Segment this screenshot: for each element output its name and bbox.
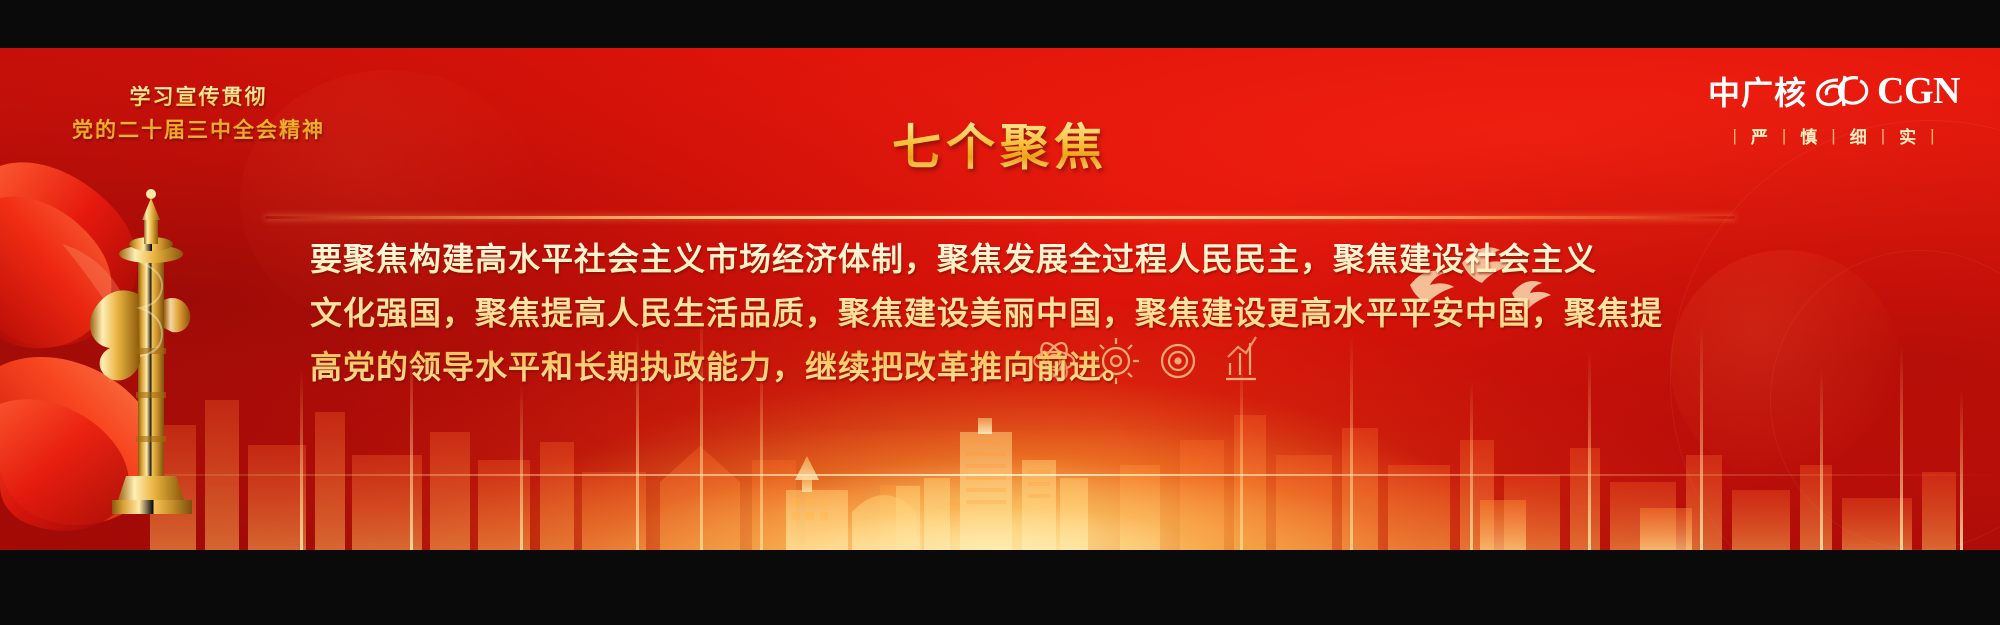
logo-name-en: CGN <box>1877 69 1960 113</box>
logo-separator-2: | <box>1831 126 1836 146</box>
logo-value-3: 实 <box>1886 123 1930 148</box>
logo-value-0: 严 <box>1738 123 1782 148</box>
logo-separator-3: | <box>1881 126 1886 146</box>
cgn-logo: 中广核 CGN | 严 | 慎 | 细 | 实 | <box>1708 68 1960 148</box>
logo-value-1: 慎 <box>1787 123 1831 148</box>
banner-body-text: 要聚焦构建高水平社会主义市场经济体制，聚焦发展全过程人民民主，聚焦建设社会主义 … <box>310 232 1730 394</box>
body-line-2: 文化强国，聚焦提高人民生活品质，聚焦建设美丽中国，聚焦建设更高水平平安中国，聚焦… <box>310 286 1730 340</box>
bottom-black-bar <box>0 550 2000 625</box>
logo-value-2: 细 <box>1837 123 1881 148</box>
gold-divider <box>265 216 1735 219</box>
logo-values: | 严 | 慎 | 细 | 实 | <box>1708 123 1960 148</box>
logo-separator-4: | <box>1930 126 1935 146</box>
logo-name-cn: 中广核 <box>1708 68 1807 114</box>
page-title: 七个聚焦 <box>0 108 2000 179</box>
propaganda-banner: 学习宣传贯彻 党的二十届三中全会精神 中广核 CGN | 严 | 慎 | 细 |… <box>0 0 2000 625</box>
logo-separator-0: | <box>1732 126 1737 146</box>
top-black-bar <box>0 0 2000 48</box>
body-line-1: 要聚焦构建高水平社会主义市场经济体制，聚焦发展全过程人民民主，聚焦建设社会主义 <box>310 232 1730 286</box>
logo-wordmark: 中广核 CGN <box>1708 68 1960 114</box>
logo-separator-1: | <box>1782 126 1787 146</box>
cgn-swirl-icon <box>1812 72 1874 110</box>
body-line-3: 高党的领导水平和长期执政能力，继续把改革推向前进。 <box>310 340 1730 394</box>
